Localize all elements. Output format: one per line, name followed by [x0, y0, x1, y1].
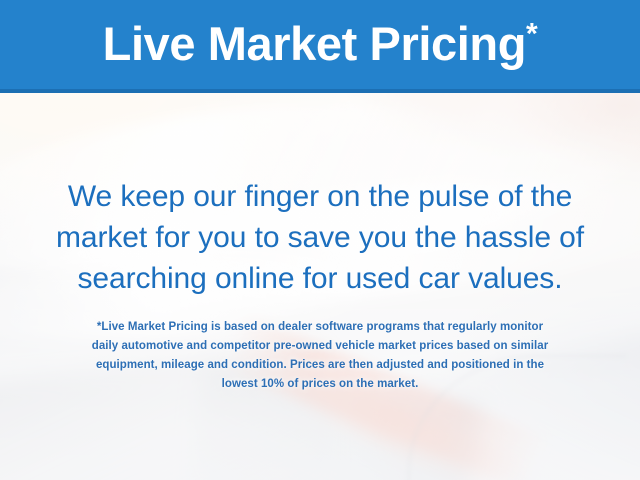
- headline-line-2: market for you to save you the hassle of: [0, 217, 640, 258]
- page-title-text: Live Market Pricing: [103, 17, 526, 70]
- headline-line-3: searching online for used car values.: [0, 258, 640, 299]
- headline-line-1: We keep our finger on the pulse of the: [0, 176, 640, 217]
- headline: We keep our finger on the pulse of the m…: [0, 176, 640, 299]
- disclaimer-line-2: daily automotive and competitor pre-owne…: [28, 337, 612, 356]
- disclaimer-fineprint: *Live Market Pricing is based on dealer …: [28, 318, 612, 394]
- page-title-asterisk: *: [526, 17, 537, 50]
- header-banner: Live Market Pricing*: [0, 0, 640, 89]
- disclaimer-line-4: lowest 10% of prices on the market.: [28, 375, 612, 394]
- page-title: Live Market Pricing*: [103, 20, 538, 70]
- disclaimer-line-1: *Live Market Pricing is based on dealer …: [28, 318, 612, 337]
- header-banner-underline: [0, 89, 640, 93]
- disclaimer-line-3: equipment, mileage and condition. Prices…: [28, 356, 612, 375]
- live-market-pricing-card: Live Market Pricing* We keep our finger …: [0, 0, 640, 480]
